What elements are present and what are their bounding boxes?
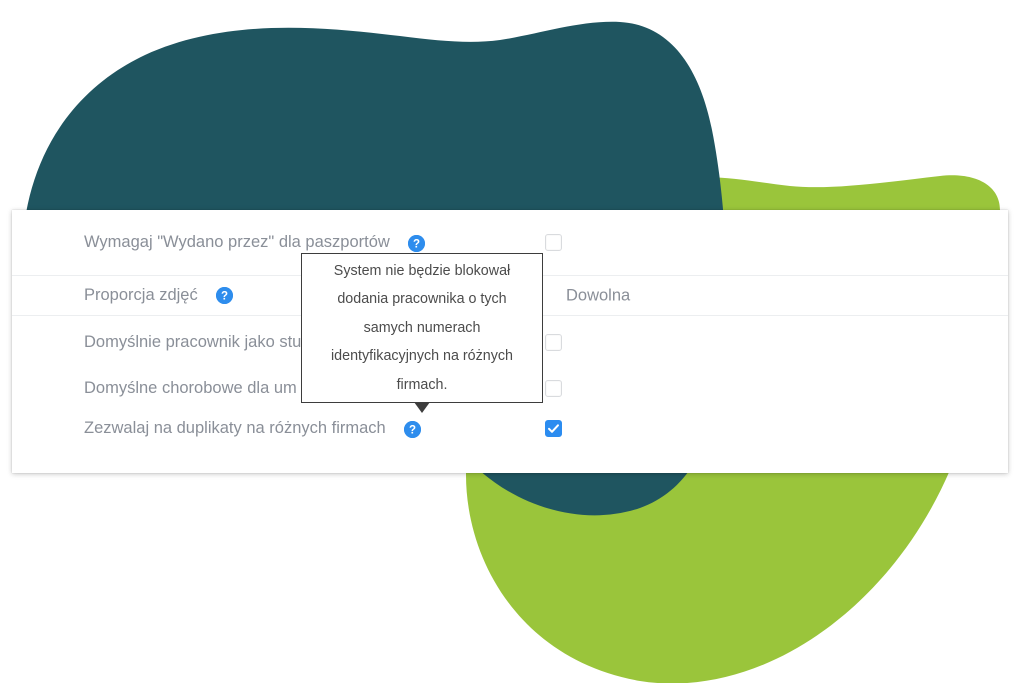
checkbox-allow-duplicates[interactable] [545,420,562,437]
question-circle-icon[interactable]: ? [404,421,421,438]
checkbox-default-sick-leave[interactable] [545,380,562,397]
settings-row-allow-duplicates[interactable]: Zezwalaj na duplikaty na różnych firmach… [12,406,1008,452]
tooltip-text: System nie będzie blokował dodania praco… [316,257,528,400]
row-label: Domyślne chorobowe dla um [12,379,297,399]
row-label: Proporcja zdjęć [12,286,198,306]
question-circle-icon[interactable]: ? [216,287,233,304]
tooltip: System nie będzie blokował dodania praco… [301,253,543,403]
row-label: Zezwalaj na duplikaty na różnych firmach [12,419,386,439]
checkbox-require-issued-by[interactable] [545,234,562,251]
svg-text:?: ? [221,291,228,303]
svg-text:?: ? [409,424,416,436]
checkbox-default-employee-as-student[interactable] [545,334,562,351]
svg-text:?: ? [413,238,420,250]
row-label: Wymagaj "Wydano przez" dla paszportów [12,233,390,253]
screen: Wymagaj "Wydano przez" dla paszportów ? … [0,0,1024,683]
question-circle-icon[interactable]: ? [408,235,425,252]
row-label: Domyślnie pracownik jako stu [12,333,301,353]
photo-proportion-select-value[interactable]: Dowolna [566,286,630,305]
arrow-down-icon [414,402,430,413]
